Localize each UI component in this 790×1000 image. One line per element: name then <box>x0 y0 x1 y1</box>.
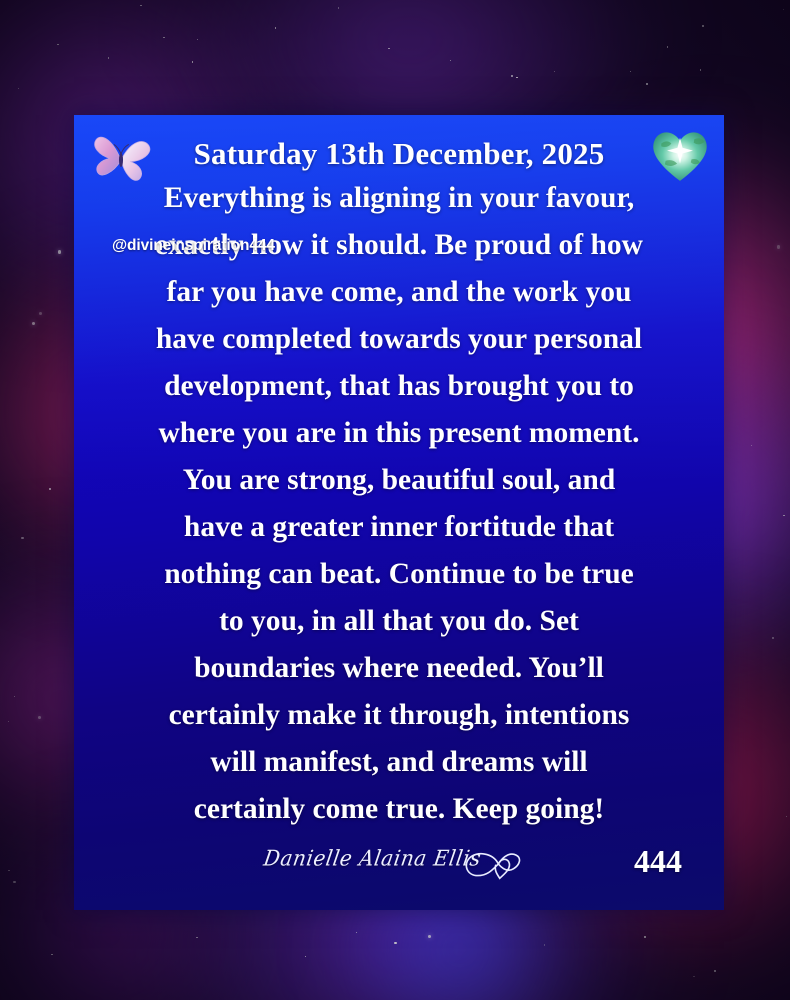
signature-row: Danielle Alaina Ellis 444 <box>74 844 724 888</box>
quote-line-1: Everything is aligning in your favour, <box>88 175 710 222</box>
author-signature: Danielle Alaina Ellis <box>262 845 483 871</box>
angel-number: 444 <box>634 843 682 880</box>
quote-line-13: will manifest, and dreams will <box>88 739 710 786</box>
watermark-handle: @divineinspiration444 <box>112 237 275 255</box>
quote-line-6: where you are in this present moment. <box>88 410 710 457</box>
quote-line-5: development, that has brought you to <box>88 363 710 410</box>
quote-line-4: have completed towards your personal <box>88 316 710 363</box>
quote-line-9: nothing can beat. Continue to be true <box>88 551 710 598</box>
quote-line-3: far you have come, and the work you <box>88 269 710 316</box>
screenshot-root: Saturday 13th December, 2025 Everything … <box>0 0 790 1000</box>
quote-line-7: You are strong, beautiful soul, and <box>88 457 710 504</box>
infinity-heart-icon <box>456 844 538 884</box>
quote-line-10: to you, in all that you do. Set <box>88 598 710 645</box>
quote-line-14: certainly come true. Keep going! <box>88 786 710 833</box>
quote-line-12: certainly make it through, intentions <box>88 692 710 739</box>
quote-body: Everything is aligning in your favour,ex… <box>74 175 724 833</box>
quote-line-8: have a greater inner fortitude that <box>88 504 710 551</box>
quote-line-11: boundaries where needed. You’ll <box>88 645 710 692</box>
quote-card: Saturday 13th December, 2025 Everything … <box>74 115 724 910</box>
page-title: Saturday 13th December, 2025 <box>74 137 724 171</box>
